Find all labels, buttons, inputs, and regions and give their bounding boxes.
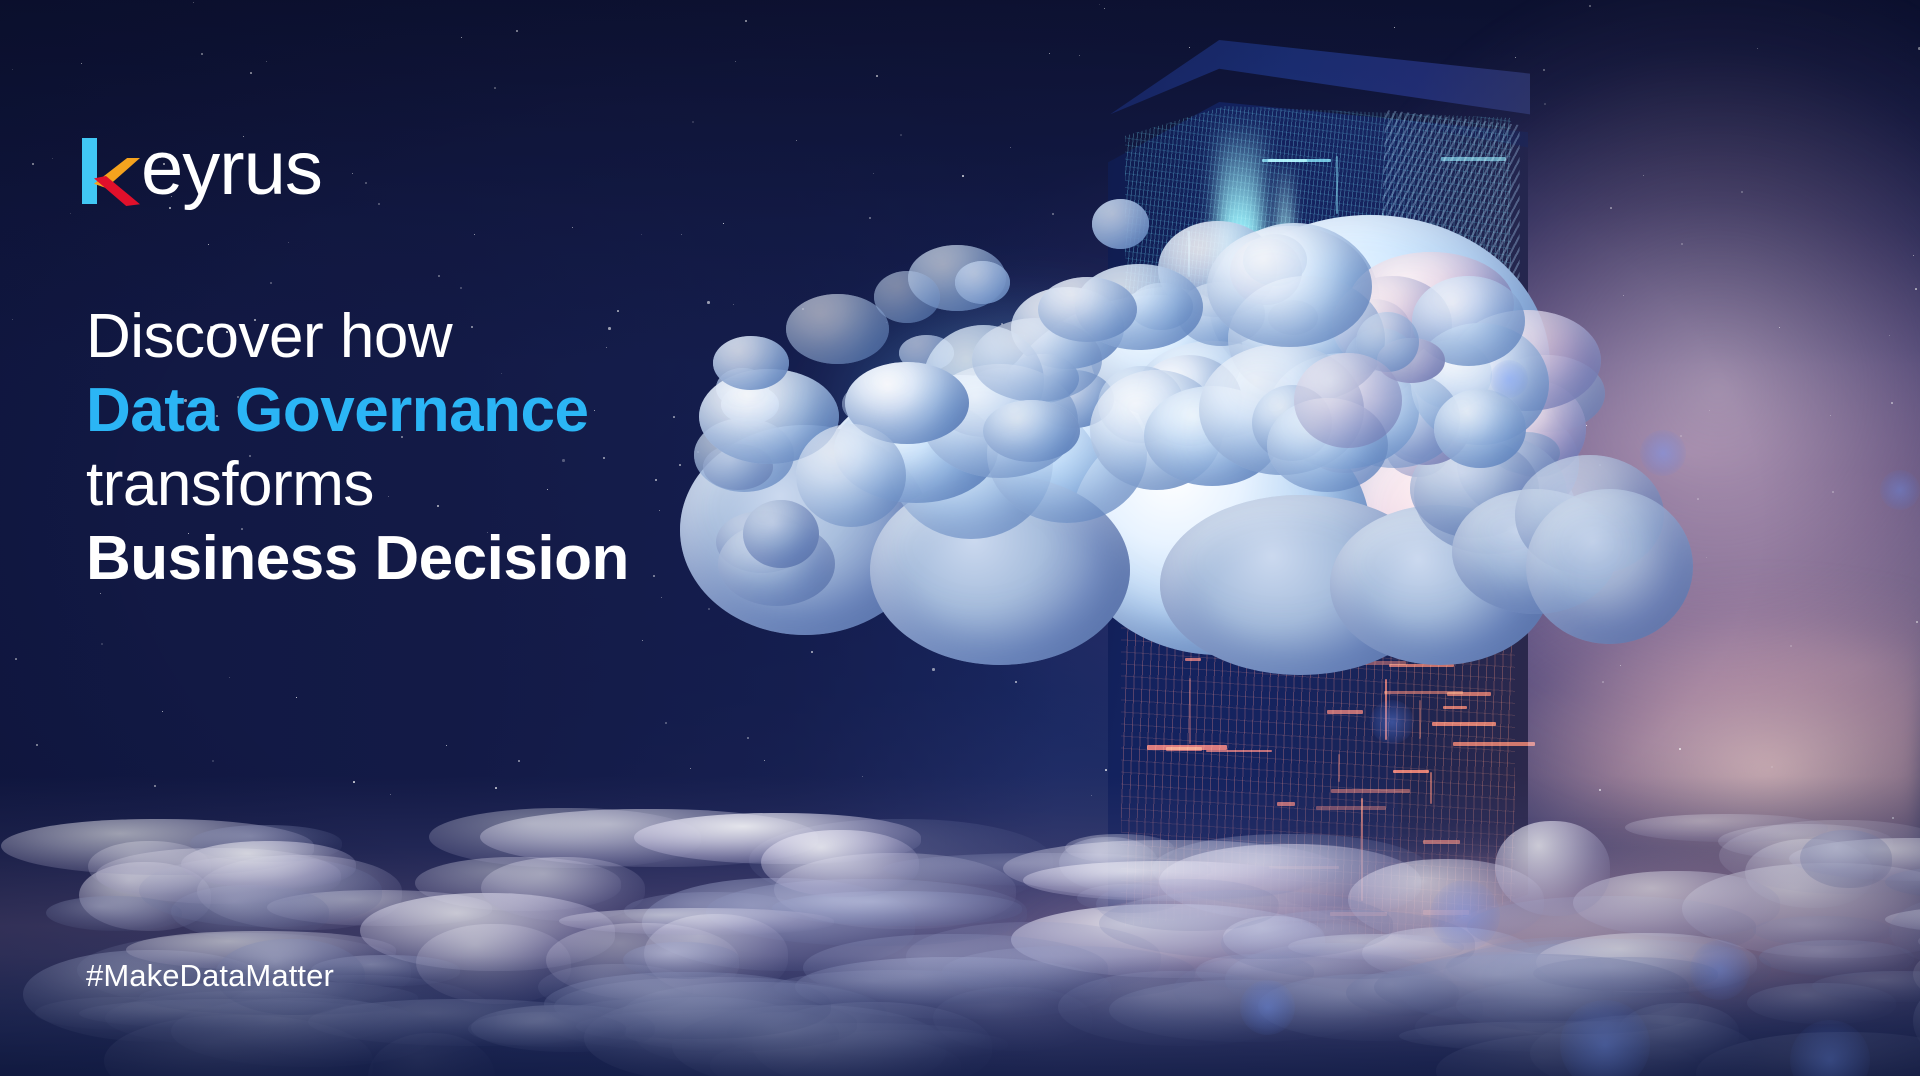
logo-cyan-bar xyxy=(82,138,97,204)
logo-red-leg xyxy=(94,176,140,206)
headline-line-2-accent: Data Governance xyxy=(86,374,846,448)
banner-canvas: eyrus Discover how Data Governance trans… xyxy=(0,0,1920,1076)
keyrus-logo[interactable]: eyrus xyxy=(78,118,322,204)
content-layer: eyrus Discover how Data Governance trans… xyxy=(0,0,1920,1076)
logo-wordmark: eyrus xyxy=(141,134,322,204)
headline-block: Discover how Data Governance transforms … xyxy=(86,300,846,596)
keyrus-k-icon xyxy=(78,118,140,204)
hashtag: #MakeDataMatter xyxy=(86,958,334,994)
headline-line-4: Business Decision xyxy=(86,522,846,596)
headline-line-3: transforms xyxy=(86,448,846,522)
headline-line-1: Discover how xyxy=(86,300,846,374)
